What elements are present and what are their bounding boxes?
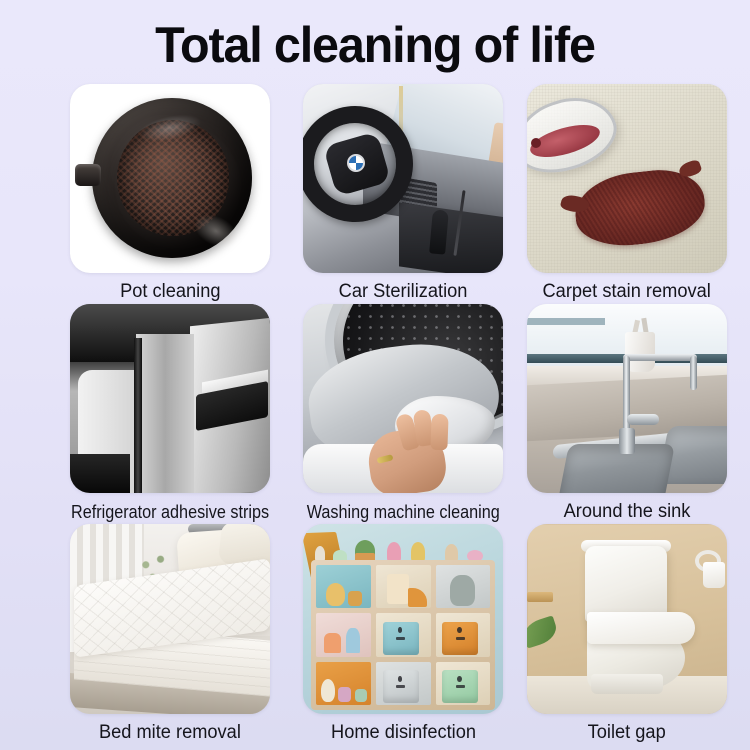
- top-toy-4: [411, 542, 425, 562]
- page-title: Total cleaning of life: [11, 16, 739, 74]
- fridge-adhesive-seal-strip: [134, 338, 142, 493]
- top-toy-3: [387, 542, 401, 562]
- image-around-the-sink[interactable]: [527, 304, 727, 493]
- sink-basin-left: [557, 444, 675, 493]
- burnt-pot-icon: [92, 98, 252, 258]
- fridge-door-frame: [136, 334, 194, 493]
- grid-item-carpet-stain-removal[interactable]: Carpet stain removal: [527, 84, 727, 304]
- shelf-top-row: [311, 538, 495, 562]
- caption-washing-machine-cleaning: Washing machine cleaning: [307, 500, 500, 524]
- wall-shelf: [527, 592, 553, 602]
- caption-carpet-stain-removal: Carpet stain removal: [542, 280, 710, 304]
- image-bed-mite-removal[interactable]: [70, 524, 270, 714]
- feature-grid: Pot cleaning Car Sterilization: [60, 84, 692, 748]
- image-carpet-stain-removal[interactable]: [527, 84, 727, 273]
- caption-pot-cleaning: Pot cleaning: [120, 280, 220, 304]
- toy-figure-3: [355, 689, 367, 703]
- caption-bed-mite-removal: Bed mite removal: [99, 721, 241, 745]
- grid-item-washing-machine-cleaning[interactable]: Washing machine cleaning: [296, 304, 510, 524]
- caption-home-disinfection: Home disinfection: [331, 721, 476, 745]
- toy-bear: [326, 583, 345, 606]
- grid-item-bed-mite-removal[interactable]: Bed mite removal: [60, 524, 280, 748]
- toilet-tank: [585, 546, 667, 622]
- toy-figure-1: [321, 679, 335, 702]
- faucet-base: [619, 428, 635, 454]
- pot-handle: [75, 164, 101, 186]
- toy-book: [387, 574, 409, 604]
- cubby-8: [376, 662, 431, 705]
- toy-figure-2: [338, 687, 351, 703]
- caption-toilet-gap: Toilet gap: [588, 721, 666, 745]
- wine-drop: [531, 138, 541, 148]
- storage-box-mint: [442, 670, 478, 703]
- caption-refrigerator-adhesive-strips: Refrigerator adhesive strips: [71, 500, 269, 524]
- image-car-sterilization[interactable]: [303, 84, 503, 273]
- toy-elephant: [450, 575, 475, 605]
- image-home-disinfection[interactable]: [303, 524, 503, 714]
- toilet-base-foot: [591, 674, 663, 694]
- cubby-2: [376, 565, 431, 608]
- faucet-arm: [623, 354, 697, 361]
- cubby-9: [436, 662, 491, 705]
- caption-car-sterilization: Car Sterilization: [339, 280, 468, 304]
- cubby-4: [316, 613, 371, 656]
- image-washing-machine-cleaning[interactable]: [303, 304, 503, 493]
- caption-around-the-sink: Around the sink: [563, 500, 690, 524]
- cubby-6: [436, 613, 491, 656]
- cubby-5: [376, 613, 431, 656]
- faucet-spout-icon: [690, 356, 697, 390]
- image-toilet-gap[interactable]: [527, 524, 727, 714]
- storage-box-gray: [383, 670, 419, 703]
- grid-item-pot-cleaning[interactable]: Pot cleaning: [60, 84, 280, 304]
- grid-item-around-the-sink[interactable]: Around the sink: [527, 304, 727, 524]
- toy-ramp: [408, 588, 428, 607]
- fridge-shadow-bottom: [70, 454, 130, 493]
- toilet-paper-roll: [703, 562, 725, 588]
- image-pot-cleaning[interactable]: [70, 84, 270, 273]
- toy-block: [348, 591, 362, 606]
- grid-item-home-disinfection[interactable]: Home disinfection: [296, 524, 510, 748]
- cubby-shelf-unit: [311, 560, 495, 710]
- hand-finger-3: [431, 414, 449, 451]
- grid-item-toilet-gap[interactable]: Toilet gap: [527, 524, 727, 748]
- toilet-seat: [587, 612, 695, 644]
- storage-box-teal: [383, 622, 419, 655]
- cubby-3: [436, 565, 491, 608]
- storage-box-orange: [442, 622, 478, 655]
- grid-item-car-sterilization[interactable]: Car Sterilization: [296, 84, 510, 304]
- cubby-1: [316, 565, 371, 608]
- toy-vase: [346, 628, 360, 653]
- toy-lamp: [324, 633, 341, 653]
- faucet-lever-handle: [627, 414, 659, 425]
- window-frame-upper: [527, 318, 605, 325]
- image-refrigerator-adhesive-strips[interactable]: [70, 304, 270, 493]
- grid-item-refrigerator-adhesive-strips[interactable]: Refrigerator adhesive strips: [60, 304, 280, 524]
- cubby-7: [316, 662, 371, 705]
